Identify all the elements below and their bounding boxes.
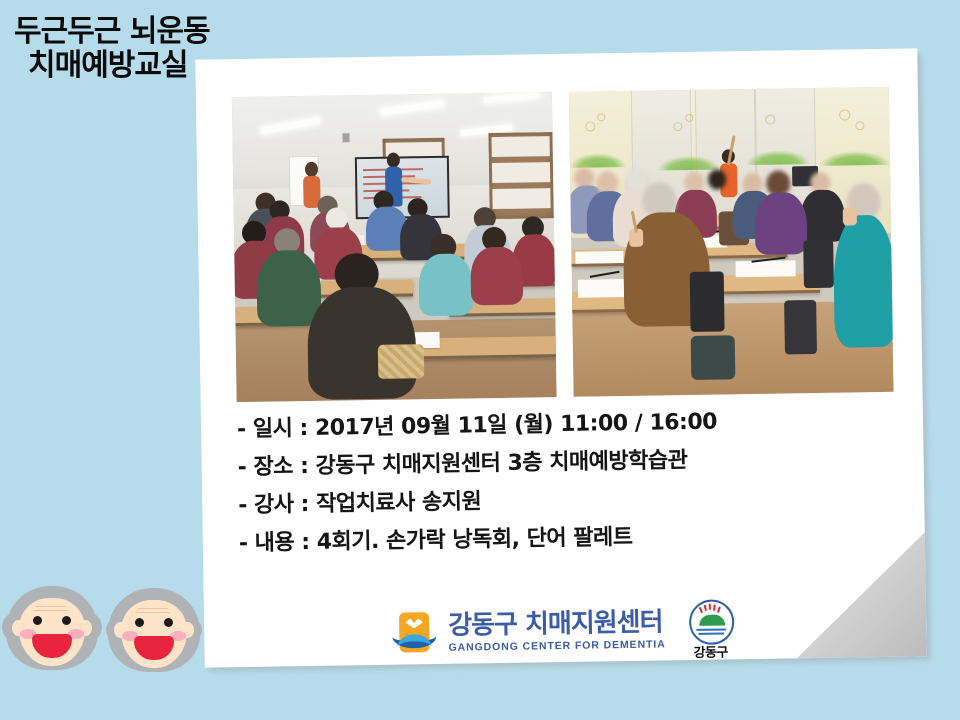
detail-line-place: - 장소 : 강동구 치매지원센터 3층 치매예방학습관 [238,447,898,479]
participant-body [800,190,845,243]
logo-arc-light-shape [397,634,431,661]
mascot-group [2,584,202,684]
classroom-lecture-photo [232,92,557,402]
eye [164,618,173,627]
attendee-body [307,286,417,400]
detail-line-content: - 내용 : 4회기. 손가락 낭독회, 단어 팔레트 [239,523,899,555]
wall-decoration [570,153,626,168]
card-surface: - 일시 : 2017년 09월 11일 (월) 11:00 / 16:00 -… [195,48,926,667]
center-logo-icon [392,611,437,656]
slide-canvas: 두근두근 뇌운동 치매예방교실 [0,0,960,720]
detail-line-instructor: - 강사 : 작업치료사 송지원 [238,485,898,517]
basket [378,344,425,379]
photo-gallery [232,87,895,402]
attendee-body [418,253,473,316]
handout [736,260,796,277]
attendee-body [256,250,321,327]
handout [575,251,623,264]
chair [784,300,817,354]
detail-line-date: - 일시 : 2017년 09월 11일 (월) 11:00 / 16:00 [237,409,897,441]
emblem-ring [689,599,735,645]
wall-decoration [746,150,810,165]
logo-english-name: GANGDONG CENTER FOR DEMENTIA [448,638,665,653]
logo-wordmark: 강동구 치매지원센터 GANGDONG CENTER FOR DEMENTIA [448,609,666,653]
room-number-sign [342,133,349,142]
chair [690,271,725,332]
title-line-2: 치매예방교실 [28,50,274,82]
participant-body [833,215,894,348]
eye [62,616,71,625]
participant-hand [843,207,857,225]
chair [803,240,834,288]
instructor-head [387,153,400,168]
granny-face-left [6,586,98,678]
logo-korean-name: 강동구 치매지원센터 [448,609,666,638]
participant-body [754,192,807,255]
wall-decoration [820,151,890,166]
bookshelf [488,132,553,219]
attendee-body [470,247,523,306]
wall-decoration [658,155,720,170]
pen [590,271,620,278]
floor-bag [691,335,736,380]
event-details: - 일시 : 2017년 09월 11일 (월) 11:00 / 16:00 -… [237,409,899,571]
emblem-label: 강동구 [684,641,738,661]
title-line-1: 두근두근 뇌운동 [14,16,274,48]
eye [135,618,144,627]
staff-head [305,162,318,177]
content-card: - 일시 : 2017년 09월 11일 (월) 11:00 / 16:00 -… [196,48,932,672]
gangdong-gu-emblem: 강동구 [683,599,738,658]
footer-logo-row: 강동구 치매지원센터 GANGDONG CENTER FOR DEMENTIA [392,599,738,662]
eye [33,616,42,625]
emblem-hill-shape [699,614,725,625]
hand-exercise-photo [569,87,894,397]
page-title: 두근두근 뇌운동 치매예방교실 [14,16,274,81]
granny-face-right [108,588,200,680]
